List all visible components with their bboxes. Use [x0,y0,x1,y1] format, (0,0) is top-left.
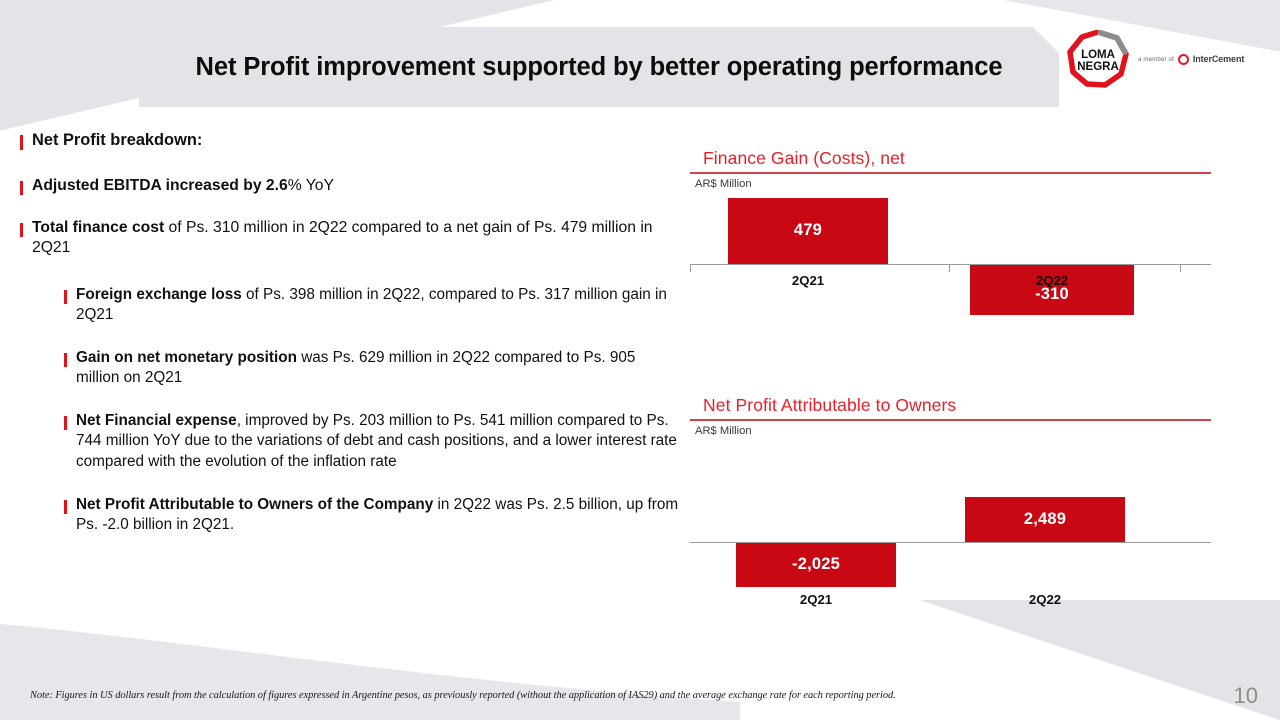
bar-value-label: 479 [794,221,822,240]
bullet-net-profit-breakdown: Net Profit breakdown: [20,130,680,151]
bar-value-label: 2,489 [1024,510,1066,529]
chart-title-divider [690,419,1211,421]
bullet-lead-text: Gain on net monetary position [76,349,297,366]
category-label-2q21: 2Q21 [728,273,888,288]
decorative-curve-shape [0,594,740,720]
chart-title: Finance Gain (Costs), net [690,148,1215,169]
bullet-marker-icon [64,290,67,304]
axis-tick-middle [949,265,950,272]
chart-unit-label: AR$ Million [690,178,1215,190]
bullet-net-profit-attributable: Net Profit Attributable to Owners of the… [64,495,680,535]
bullet-adjusted-ebitda: Adjusted EBITDA increased by 2.6% YoY [20,176,680,196]
net-profit-breakdown-list: Net Profit breakdown: Adjusted EBITDA in… [20,130,680,558]
chart-unit-label: AR$ Million [690,425,1215,437]
intercement-ring-icon [1178,54,1189,65]
sub-bullet-list: Foreign exchange loss of Ps. 398 million… [64,285,680,536]
bullet-lead-text: Total finance cost [32,219,164,236]
chart-net-profit-attributable-to-owners: Net Profit Attributable to Owners AR$ Mi… [690,395,1215,597]
bullet-heading-text: Net Profit breakdown: [32,130,202,151]
bullet-lead-text: Foreign exchange loss [76,286,242,303]
bullet-marker-icon [20,223,23,237]
chart-title-divider [690,172,1211,174]
chart-plot-area: 479 -310 2Q21 2Q22 [690,190,1211,350]
bar-2q21: -2,025 [736,543,896,587]
bullet-marker-icon [20,135,23,150]
bullet-lead-text: Adjusted EBITDA increased by 2.6 [32,177,288,194]
intercement-label: InterCement [1193,54,1244,64]
bullet-lead-text: Net Financial expense [76,412,237,429]
bullet-gain-net-monetary-position: Gain on net monetary position was Ps. 62… [64,348,680,388]
loma-negra-logo-icon: LOMA NEGRA [1067,30,1129,88]
bullet-foreign-exchange-loss: Foreign exchange loss of Ps. 398 million… [64,285,680,325]
axis-tick-right [1180,265,1181,272]
axis-tick-left [690,265,691,272]
brand-logo: LOMA NEGRA a member of InterCement [1067,28,1272,90]
member-of-label: a member of [1138,56,1174,63]
chart-finance-gain-costs-net: Finance Gain (Costs), net AR$ Million 47… [690,148,1215,350]
svg-text:NEGRA: NEGRA [1077,61,1119,73]
bar-2q22: 2,489 [965,497,1125,542]
bullet-marker-icon [64,416,67,430]
decorative-corner-bottom-left [0,594,740,720]
chart-plot-area: -2,025 2,489 2Q21 2Q22 [690,437,1211,597]
chart-title: Net Profit Attributable to Owners [690,395,1215,416]
bar-2q21: 479 [728,198,888,264]
category-label-2q22: 2Q22 [965,592,1125,607]
bullet-marker-icon [64,500,67,514]
page-title: Net Profit improvement supported by bett… [156,51,1043,84]
bullet-marker-icon [20,181,23,195]
intercement-lockup: a member of InterCement [1138,54,1244,65]
title-banner: Net Profit improvement supported by bett… [139,27,1059,107]
bar-value-label: -2,025 [792,555,840,574]
bullet-total-finance-cost: Total finance cost of Ps. 310 million in… [20,218,680,259]
category-label-2q22: 2Q22 [970,273,1134,288]
category-label-2q21: 2Q21 [736,592,896,607]
decorative-corner-bottom-right [920,600,1280,720]
page-number: 10 [1234,683,1258,709]
bullet-marker-icon [64,353,67,367]
svg-text:LOMA: LOMA [1081,49,1115,61]
bullet-net-financial-expense: Net Financial expense, improved by Ps. 2… [64,411,680,472]
bullet-rest-text: % YoY [288,177,334,194]
footnote-text: Note: Figures in US dollars result from … [30,690,1220,701]
bullet-lead-text: Net Profit Attributable to Owners of the… [76,496,433,513]
